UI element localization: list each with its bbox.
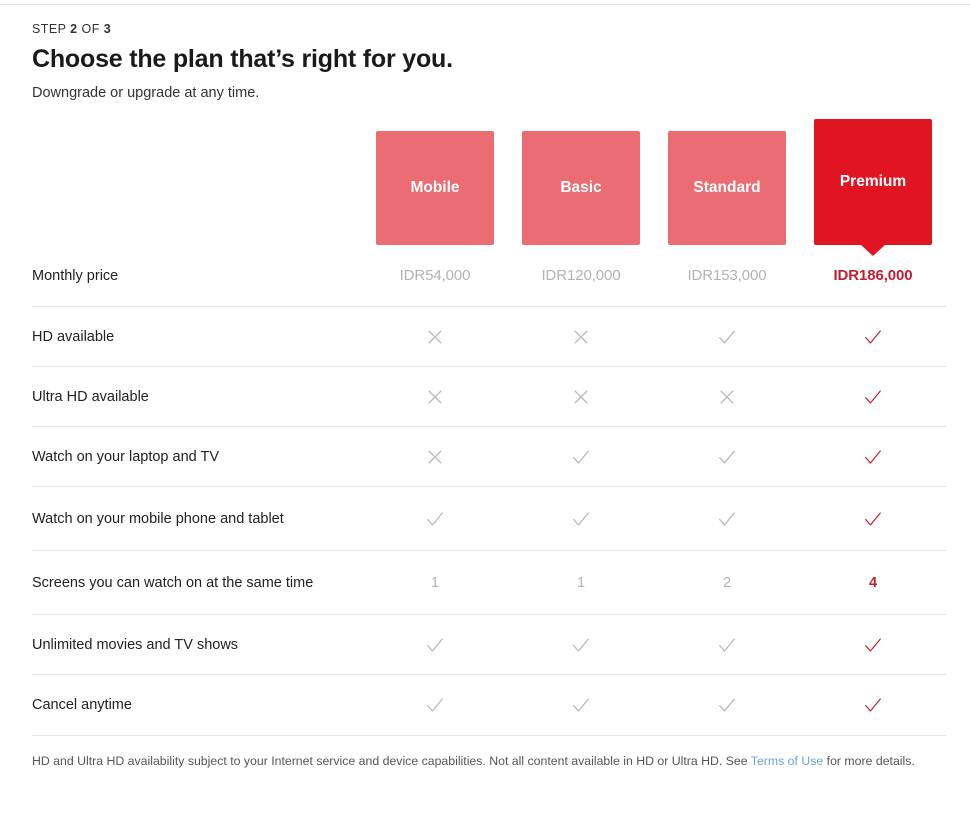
selected-plan-pointer-icon: [860, 244, 886, 256]
table-bottom-divider: [32, 735, 946, 736]
plan-cell-3: Premium: [800, 119, 946, 245]
feature-value-cell: [508, 446, 654, 468]
check-icon: [716, 694, 738, 716]
feature-value-cell: [508, 634, 654, 656]
feature-value-cell: [362, 508, 508, 530]
cross-icon: [424, 326, 446, 348]
feature-value-cell: [654, 508, 800, 530]
feature-value-cell: [508, 386, 654, 408]
feature-label: Watch on your mobile phone and tablet: [32, 509, 362, 529]
plan-card-label: Premium: [840, 173, 906, 191]
feature-row: Watch on your mobile phone and tablet: [32, 487, 946, 551]
check-icon: [570, 634, 592, 656]
feature-value-cell: [800, 386, 946, 408]
check-icon: [570, 508, 592, 530]
feature-label: Screens you can watch on at the same tim…: [32, 573, 362, 593]
feature-value-cell: [508, 694, 654, 716]
step-total: 3: [104, 22, 111, 36]
cross-icon: [570, 326, 592, 348]
page-content: STEP 2 OF 3 Choose the plan that’s right…: [0, 0, 970, 771]
step-prefix: STEP: [32, 22, 66, 36]
monthly-price-row: Monthly price IDR54,000 IDR120,000 IDR15…: [32, 245, 946, 307]
cross-icon: [570, 386, 592, 408]
step-current: 2: [70, 22, 77, 36]
check-icon: [716, 634, 738, 656]
cross-icon: [716, 386, 738, 408]
disclaimer-text: HD and Ultra HD availability subject to …: [32, 752, 927, 771]
page-subtitle: Downgrade or upgrade at any time.: [32, 85, 946, 101]
feature-rows: HD availableUltra HD availableWatch on y…: [32, 307, 946, 735]
feature-value-cell: [508, 508, 654, 530]
feature-value-cell: [654, 694, 800, 716]
feature-value-cell: [362, 446, 508, 468]
feature-row: Screens you can watch on at the same tim…: [32, 551, 946, 615]
disclaimer-before: HD and Ultra HD availability subject to …: [32, 754, 751, 768]
plan-cell-1: Basic: [508, 119, 654, 245]
price-mobile: IDR54,000: [400, 267, 471, 284]
page-title: Choose the plan that’s right for you.: [32, 45, 946, 74]
feature-value-cell: 2: [654, 575, 800, 591]
plan-card-premium[interactable]: Premium: [814, 119, 932, 245]
feature-value-number: 1: [431, 575, 439, 591]
price-cell-2: IDR153,000: [654, 267, 800, 284]
feature-value-cell: [800, 326, 946, 348]
feature-value-cell: [800, 634, 946, 656]
plan-card-label: Mobile: [410, 179, 459, 197]
feature-label: HD available: [32, 327, 362, 347]
check-icon: [716, 446, 738, 468]
feature-value-cell: [362, 386, 508, 408]
check-icon: [862, 446, 884, 468]
feature-label: Cancel anytime: [32, 695, 362, 715]
terms-of-use-link[interactable]: Terms of Use: [751, 754, 823, 768]
cross-icon: [424, 446, 446, 468]
feature-row: HD available: [32, 307, 946, 367]
feature-value-cell: [362, 694, 508, 716]
price-premium: IDR186,000: [833, 267, 912, 284]
feature-row: Watch on your laptop and TV: [32, 427, 946, 487]
feature-value-cell: [362, 634, 508, 656]
feature-value-cell: [800, 694, 946, 716]
check-icon: [862, 386, 884, 408]
step-middle: OF: [82, 22, 100, 36]
feature-row: Ultra HD available: [32, 367, 946, 427]
plan-cards-row: Mobile Basic Standard Premium: [32, 119, 946, 245]
feature-label: Watch on your laptop and TV: [32, 447, 362, 467]
price-cell-0: IDR54,000: [362, 267, 508, 284]
feature-value-cell: [800, 446, 946, 468]
plan-cell-0: Mobile: [362, 119, 508, 245]
feature-value-cell: 1: [508, 575, 654, 591]
check-icon: [424, 508, 446, 530]
feature-label: Ultra HD available: [32, 387, 362, 407]
check-icon: [716, 326, 738, 348]
price-standard: IDR153,000: [687, 267, 766, 284]
feature-value-cell: [654, 326, 800, 348]
plan-card-label: Basic: [560, 179, 601, 197]
feature-value-cell: [362, 326, 508, 348]
check-icon: [862, 508, 884, 530]
feature-value-number: 1: [577, 575, 585, 591]
price-cell-3: IDR186,000: [800, 267, 946, 284]
feature-label: Unlimited movies and TV shows: [32, 635, 362, 655]
plan-selection-page: STEP 2 OF 3 Choose the plan that’s right…: [0, 0, 970, 815]
disclaimer-after: for more details.: [823, 754, 915, 768]
check-icon: [862, 694, 884, 716]
feature-value-cell: [654, 634, 800, 656]
feature-value-cell: 1: [362, 575, 508, 591]
cross-icon: [424, 386, 446, 408]
price-cell-1: IDR120,000: [508, 267, 654, 284]
feature-value-cell: [654, 386, 800, 408]
row-label: Monthly price: [32, 266, 362, 286]
feature-value-number: 2: [723, 575, 731, 591]
check-icon: [424, 634, 446, 656]
check-icon: [716, 508, 738, 530]
feature-value-cell: 4: [800, 575, 946, 591]
plan-card-basic[interactable]: Basic: [522, 131, 640, 245]
feature-value-cell: [508, 326, 654, 348]
plan-card-label: Standard: [693, 179, 760, 197]
check-icon: [862, 326, 884, 348]
plan-cell-2: Standard: [654, 119, 800, 245]
plan-card-standard[interactable]: Standard: [668, 131, 786, 245]
feature-value-number: 4: [869, 575, 877, 591]
feature-value-cell: [800, 508, 946, 530]
feature-value-cell: [654, 446, 800, 468]
plan-card-mobile[interactable]: Mobile: [376, 131, 494, 245]
plan-comparison-table: Mobile Basic Standard Premium: [32, 119, 946, 736]
feature-row: Unlimited movies and TV shows: [32, 615, 946, 675]
check-icon: [570, 446, 592, 468]
price-basic: IDR120,000: [541, 267, 620, 284]
step-indicator: STEP 2 OF 3: [32, 22, 946, 36]
check-icon: [570, 694, 592, 716]
check-icon: [862, 634, 884, 656]
feature-row: Cancel anytime: [32, 675, 946, 735]
check-icon: [424, 694, 446, 716]
